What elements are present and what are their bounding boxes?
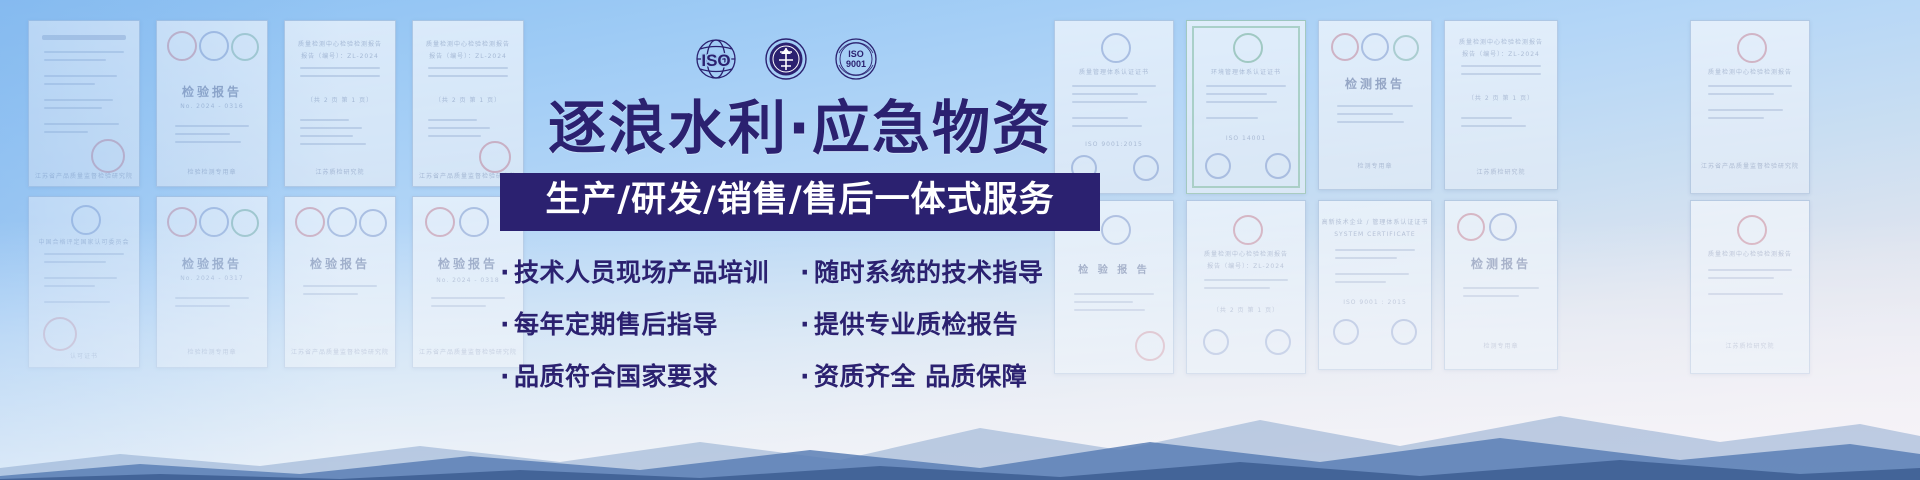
svg-text:ISO: ISO: [701, 51, 730, 70]
feature-row: · 品质符合国家要求 · 资质齐全 品质保障: [500, 357, 1100, 393]
bullet-icon: ·: [500, 364, 510, 389]
certification-badges: ISO ISO 9001: [690, 28, 890, 90]
feature-item: · 品质符合国家要求: [500, 357, 800, 393]
feature-row: · 每年定期售后指导 · 提供专业质检报告: [500, 305, 1100, 341]
promo-banner: 江苏省产品质量监督检验研究院 检验报告 No. 2024 - 0316 检验检测…: [0, 0, 1920, 480]
feature-label: 资质齐全 品质保障: [814, 357, 1027, 393]
feature-label: 技术人员现场产品培训: [514, 253, 769, 289]
feature-item: · 随时系统的技术指导: [800, 253, 1100, 289]
certificate-thumbnail: 检验报告 No. 2024 - 0317 检验检测专用章: [156, 196, 268, 368]
svg-text:9001: 9001: [846, 59, 866, 69]
feature-label: 随时系统的技术指导: [814, 253, 1044, 289]
feature-row: · 技术人员现场产品培训 · 随时系统的技术指导: [500, 253, 1100, 289]
certificate-thumbnail: 质量检测中心检验检测报告 江苏省产品质量监督检验研究院: [1690, 20, 1810, 194]
quality-seal-badge-icon: [760, 33, 812, 85]
feature-label: 提供专业质检报告: [814, 305, 1018, 341]
certificate-thumbnail: 高新技术企业 / 管理体系认证证书 SYSTEM CERTIFICATE ISO…: [1318, 200, 1432, 370]
feature-list: · 技术人员现场产品培训 · 随时系统的技术指导 · 每年定期售后指导 · 提供…: [500, 253, 1100, 393]
feature-item: · 技术人员现场产品培训: [500, 253, 800, 289]
bullet-icon: ·: [800, 312, 810, 337]
iso9001-badge-icon: ISO 9001: [830, 33, 882, 85]
feature-label: 每年定期售后指导: [514, 305, 718, 341]
bullet-icon: ·: [800, 364, 810, 389]
iso-badge-icon: ISO: [690, 33, 742, 85]
subtitle-bar: 生产/研发/销售/售后一体式服务: [500, 173, 1100, 231]
certificate-thumbnail: 检测报告 检测专用章: [1318, 20, 1432, 190]
bullet-icon: ·: [500, 312, 510, 337]
feature-item: · 资质齐全 品质保障: [800, 357, 1100, 393]
certificate-thumbnail: 环境管理体系认证证书 ISO 14001: [1186, 20, 1306, 194]
page-title: 逐浪水利·应急物资: [500, 96, 1100, 161]
certificate-thumbnail: 中国合格评定国家认可委员会 认可证书: [28, 196, 140, 368]
certificate-thumbnail: 质量检测中心检验检测报告 报告（编号）：ZL-2024 （共 2 页 第 1 页…: [1186, 200, 1306, 374]
certificate-thumbnail: 质量检测中心检验检测报告 江苏质检研究院: [1690, 200, 1810, 374]
feature-item: · 每年定期售后指导: [500, 305, 800, 341]
svg-text:ISO: ISO: [848, 49, 864, 59]
certificate-thumbnail: 检验报告 江苏省产品质量监督检验研究院: [284, 196, 396, 368]
certificate-thumbnail: 质量检测中心检验检测报告 报告（编号）：ZL-2024 （共 2 页 第 1 页…: [1444, 20, 1558, 190]
certificate-thumbnail: 江苏省产品质量监督检验研究院: [28, 20, 140, 187]
feature-label: 品质符合国家要求: [514, 357, 718, 393]
bullet-icon: ·: [500, 260, 510, 285]
certificate-thumbnail: 检验报告 No. 2024 - 0316 检验检测专用章: [156, 20, 268, 187]
certificate-thumbnail: 质量检测中心检验检测报告 报告（编号）：ZL-2024 （共 2 页 第 1 页…: [284, 20, 396, 187]
bullet-icon: ·: [800, 260, 810, 285]
feature-item: · 提供专业质检报告: [800, 305, 1100, 341]
certificate-thumbnail: 检测报告 检测专用章: [1444, 200, 1558, 370]
headline-block: 逐浪水利·应急物资 生产/研发/销售/售后一体式服务 · 技术人员现场产品培训 …: [500, 96, 1100, 409]
